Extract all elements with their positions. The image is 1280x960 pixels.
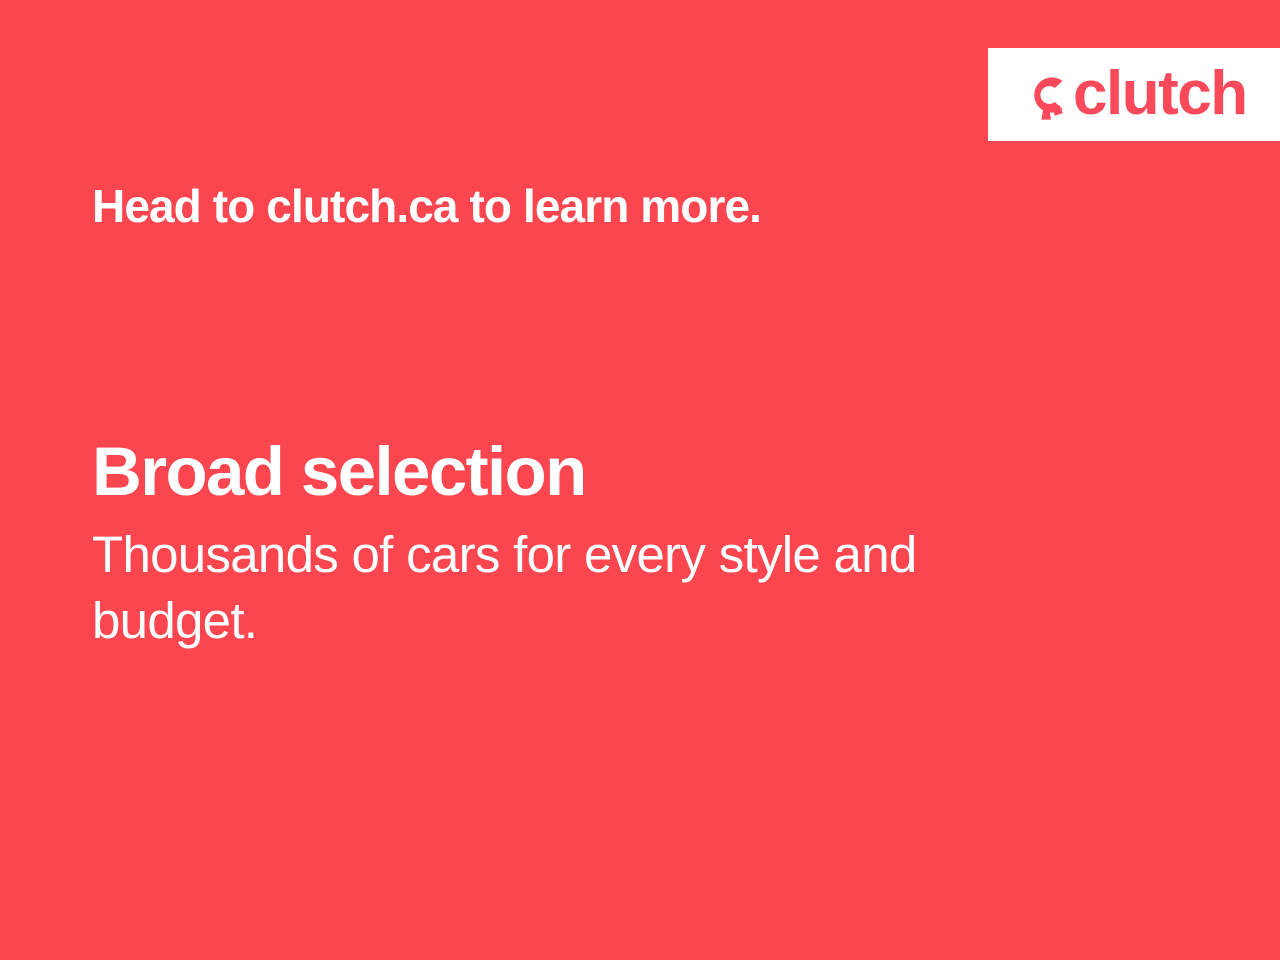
page-subtitle: Thousands of cars for every style and bu… <box>92 522 1022 653</box>
brand-lockup: clutch <box>1021 68 1247 122</box>
clutch-c-ring-icon <box>1021 68 1071 122</box>
page-title: Broad selection <box>92 436 1092 508</box>
main-copy-block: Broad selection Thousands of cars for ev… <box>92 436 1092 653</box>
slide-canvas: clutch Head to clutch.ca to learn more. … <box>0 0 1280 960</box>
eyebrow-cta-text: Head to clutch.ca to learn more. <box>92 181 761 233</box>
brand-logo-plate[interactable]: clutch <box>988 48 1280 141</box>
brand-wordmark: clutch <box>1073 69 1247 120</box>
